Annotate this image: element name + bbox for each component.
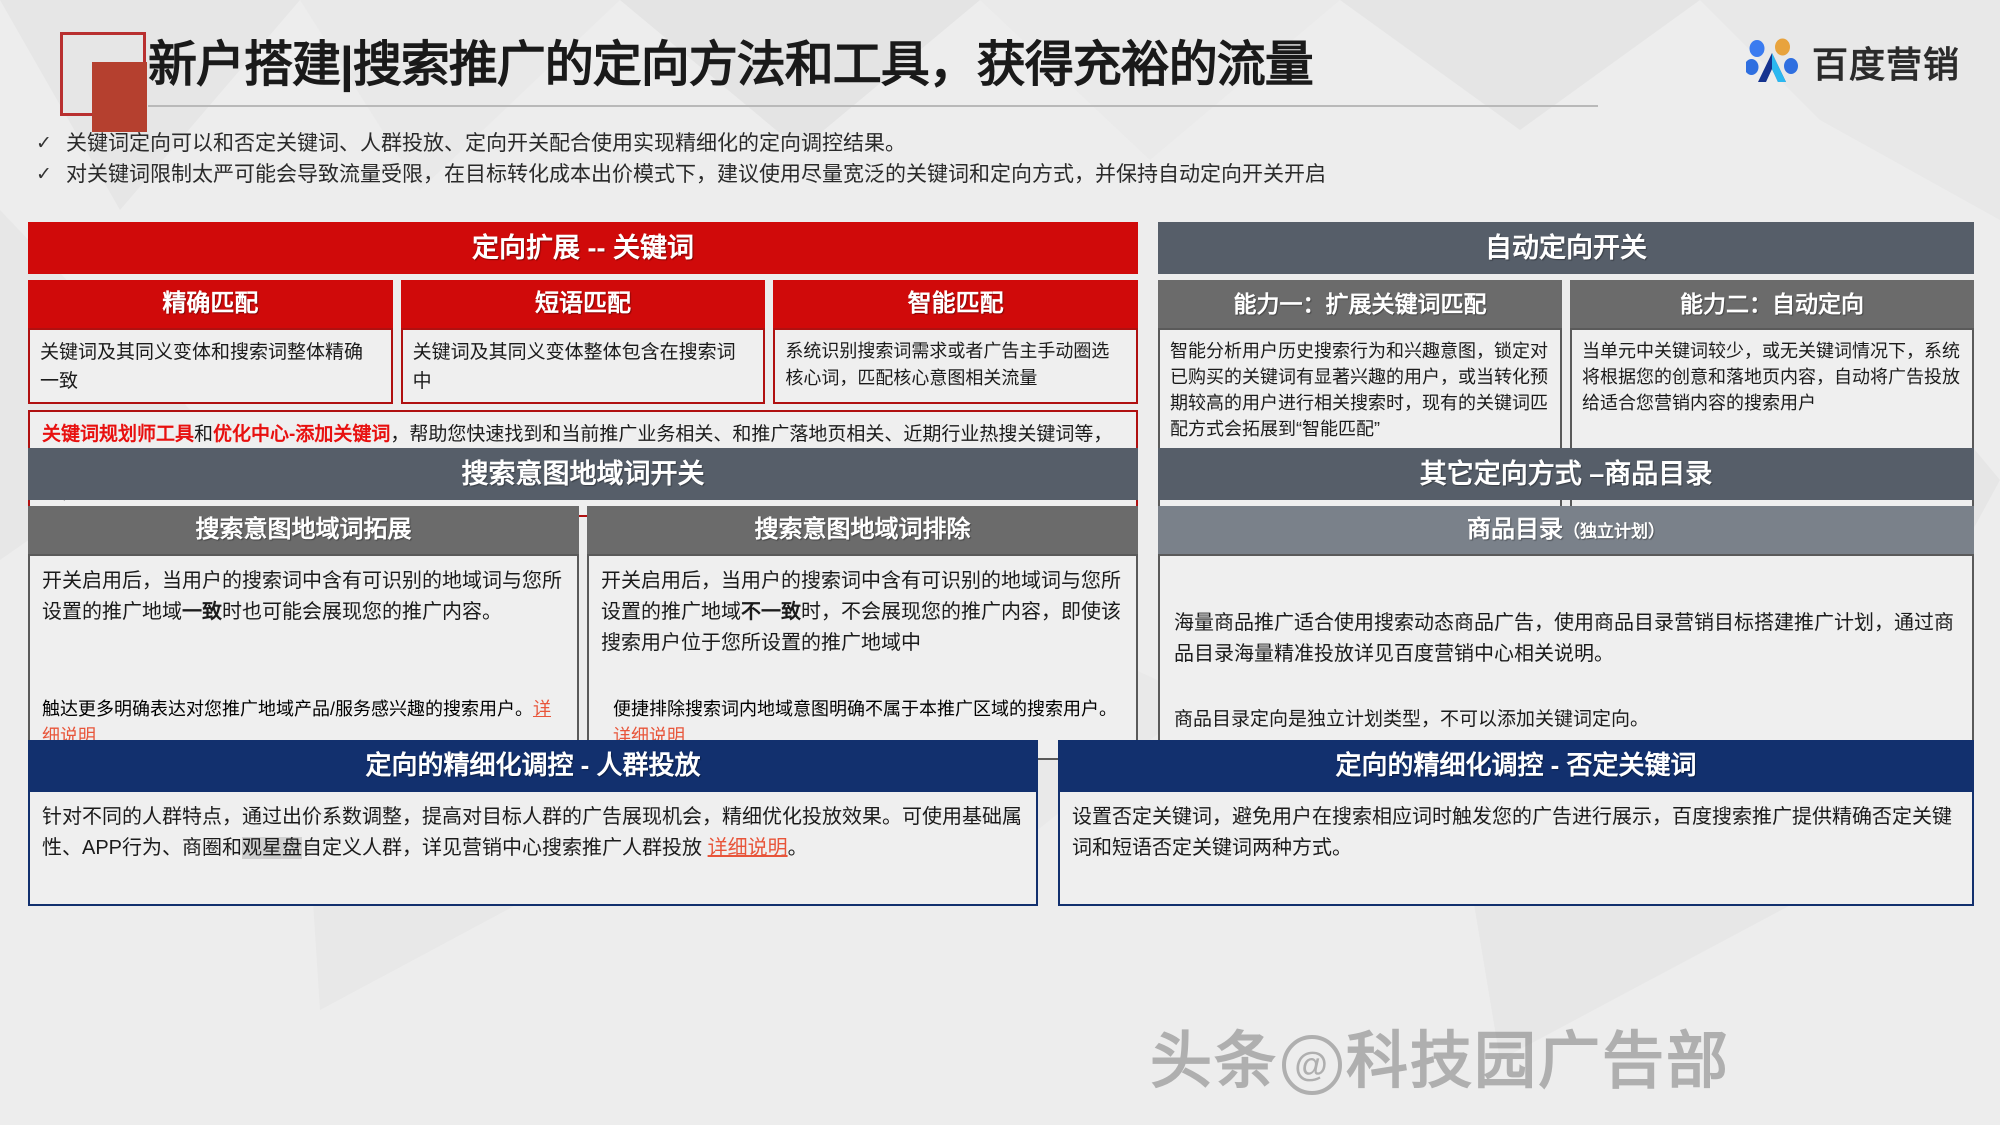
bullet-text: 对关键词限制太严可能会导致流量受限，在目标转化成本出价模式下，建议使用尽量宽泛的… bbox=[66, 159, 1326, 190]
note-link-keyword-planner[interactable]: 关键词规划师工具 bbox=[42, 424, 194, 445]
region-expand-text-post: 时也可能会展现您的推广内容。 bbox=[222, 601, 502, 623]
slide-root: 新户搭建|搜索推广的定向方法和工具，获得充裕的流量 百度营销 ✓ 关键词定向可以… bbox=[0, 0, 2000, 1125]
crowd-text-guanxingpan: 观星盘 bbox=[242, 837, 302, 859]
brand-logo-text: 百度营销 bbox=[1812, 36, 1960, 88]
card-phrase-match: 短语匹配 关键词及其同义变体整体包含在搜索词中 bbox=[401, 280, 766, 404]
card-region-exclude-body: 开关启用后，当用户的搜索词中含有可识别的地域词与您所设置的推广地域不一致时，不会… bbox=[587, 554, 1138, 760]
capability-one-text: 智能分析用户历史搜索行为和兴趣意图，锁定对已购买的关键词有显著兴趣的用户，或当转… bbox=[1170, 338, 1550, 442]
card-smart-match-heading: 智能匹配 bbox=[773, 280, 1138, 328]
card-region-expand-body: 开关启用后，当用户的搜索词中含有可识别的地域词与您所设置的推广地域一致时也可能会… bbox=[28, 554, 579, 760]
region-exclude-text-bold: 不一致 bbox=[741, 601, 801, 623]
region-expand-text-bold: 一致 bbox=[182, 601, 222, 623]
catalog-paragraph-2: 商品目录定向是独立计划类型，不可以添加关键词定向。 bbox=[1174, 705, 1958, 734]
card-region-exclude: 搜索意图地域词排除 开关启用后，当用户的搜索词中含有可识别的地域词与您所设置的推… bbox=[587, 506, 1138, 760]
card-exact-match-heading: 精确匹配 bbox=[28, 280, 393, 328]
card-capability-two-heading: 能力二：自动定向 bbox=[1570, 280, 1974, 328]
card-exact-match-body: 关键词及其同义变体和搜索词整体精确一致 bbox=[28, 328, 393, 404]
section-crowd-targeting-title: 定向的精细化调控 - 人群投放 bbox=[28, 740, 1038, 790]
card-region-expand: 搜索意图地域词拓展 开关启用后，当用户的搜索词中含有可识别的地域词与您所设置的推… bbox=[28, 506, 579, 760]
region-expand-text: 开关启用后，当用户的搜索词中含有可识别的地域词与您所设置的推广地域一致时也可能会… bbox=[42, 566, 565, 628]
card-catalog-body: 海量商品推广适合使用搜索动态商品广告，使用商品目录营销目标搭建推广计划，通过商品… bbox=[1158, 554, 1974, 760]
capability-two-text: 当单元中关键词较少，或无关键词情况下，系统将根据您的创意和落地页内容，自动将广告… bbox=[1582, 338, 1962, 416]
note-link-optimization-center[interactable]: 优化中心-添加关键词 bbox=[213, 424, 390, 445]
page-title: 新户搭建|搜索推广的定向方法和工具，获得充裕的流量 bbox=[148, 30, 1313, 100]
intro-bullet-list: ✓ 关键词定向可以和否定关键词、人群投放、定向开关配合使用实现精细化的定向调控结… bbox=[34, 128, 1974, 190]
section-negative-keywords-title: 定向的精细化调控 - 否定关键词 bbox=[1058, 740, 1974, 790]
card-catalog-heading-main: 商品目录 bbox=[1467, 516, 1563, 543]
check-icon: ✓ bbox=[34, 128, 54, 159]
card-smart-match-body: 系统识别搜索词需求或者广告主手动圈选核心词，匹配核心意图相关流量 bbox=[773, 328, 1138, 404]
region-exclude-footnote-text: 便捷排除搜索词内地域意图明确不属于本推广区域的搜索用户。 bbox=[613, 699, 1117, 719]
card-capability-one-heading: 能力一：扩展关键词匹配 bbox=[1158, 280, 1562, 328]
section-crowd-targeting: 定向的精细化调控 - 人群投放 针对不同的人群特点，通过出价系数调整，提高对目标… bbox=[28, 740, 1038, 906]
card-region-expand-heading: 搜索意图地域词拓展 bbox=[28, 506, 579, 554]
crowd-detail-link[interactable]: 详细说明 bbox=[708, 837, 788, 859]
card-phrase-match-heading: 短语匹配 bbox=[401, 280, 766, 328]
watermark-at-icon: @ bbox=[1282, 1035, 1342, 1095]
catalog-paragraph-1: 海量商品推广适合使用搜索动态商品广告，使用商品目录营销目标搭建推广计划，通过商品… bbox=[1174, 608, 1958, 670]
region-expand-footnote-text: 触达更多明确表达对您推广地域产品/服务感兴趣的搜索用户。 bbox=[42, 699, 533, 719]
watermark-prefix: 头条 bbox=[1150, 1027, 1278, 1096]
section-product-catalog: 其它定向方式 –商品目录 商品目录（独立计划） 海量商品推广适合使用搜索动态商品… bbox=[1158, 448, 1974, 760]
section-product-catalog-title: 其它定向方式 –商品目录 bbox=[1158, 448, 1974, 500]
note-text: 和 bbox=[194, 424, 213, 445]
bullet-text: 关键词定向可以和否定关键词、人群投放、定向开关配合使用实现精细化的定向调控结果。 bbox=[66, 128, 906, 159]
header-divider bbox=[148, 105, 1598, 107]
section-negative-keywords-body: 设置否定关键词，避免用户在搜索相应词时触发您的广告进行展示，百度搜索推广提供精确… bbox=[1058, 790, 1974, 906]
card-region-exclude-heading: 搜索意图地域词排除 bbox=[587, 506, 1138, 554]
card-smart-match: 智能匹配 系统识别搜索词需求或者广告主手动圈选核心词，匹配核心意图相关流量 bbox=[773, 280, 1138, 404]
section-keyword-expand-title: 定向扩展 -- 关键词 bbox=[28, 222, 1138, 274]
section-region-intent-title: 搜索意图地域词开关 bbox=[28, 448, 1138, 500]
bullet-item: ✓ 对关键词限制太严可能会导致流量受限，在目标转化成本出价模式下，建议使用尽量宽… bbox=[34, 159, 1974, 190]
region-exclude-text: 开关启用后，当用户的搜索词中含有可识别的地域词与您所设置的推广地域不一致时，不会… bbox=[601, 566, 1124, 659]
slide-header: 新户搭建|搜索推广的定向方法和工具，获得充裕的流量 百度营销 bbox=[0, 0, 2000, 128]
section-negative-keywords: 定向的精细化调控 - 否定关键词 设置否定关键词，避免用户在搜索相应词时触发您的… bbox=[1058, 740, 1974, 906]
crowd-text-mid: 自定义人群，详见营销中心搜索推广人群投放 bbox=[302, 837, 708, 859]
card-catalog-heading-note: （独立计划） bbox=[1563, 522, 1665, 541]
card-exact-match: 精确匹配 关键词及其同义变体和搜索词整体精确一致 bbox=[28, 280, 393, 404]
brand-logo: 百度营销 bbox=[1746, 36, 1960, 88]
header-decor-square-solid bbox=[92, 62, 147, 132]
section-region-intent-switch: 搜索意图地域词开关 搜索意图地域词拓展 开关启用后，当用户的搜索词中含有可识别的… bbox=[28, 448, 1138, 760]
section-crowd-targeting-body: 针对不同的人群特点，通过出价系数调整，提高对目标人群的广告展现机会，精细优化投放… bbox=[28, 790, 1038, 906]
bullet-item: ✓ 关键词定向可以和否定关键词、人群投放、定向开关配合使用实现精细化的定向调控结… bbox=[34, 128, 1974, 159]
card-phrase-match-body: 关键词及其同义变体整体包含在搜索词中 bbox=[401, 328, 766, 404]
section-auto-targeting-title: 自动定向开关 bbox=[1158, 222, 1974, 274]
card-catalog-heading: 商品目录（独立计划） bbox=[1158, 506, 1974, 554]
baidu-bear-paw-icon bbox=[1746, 38, 1800, 86]
watermark: 头条@科技园广告部 bbox=[1150, 1010, 1730, 1100]
check-icon: ✓ bbox=[34, 159, 54, 190]
watermark-suffix: 科技园广告部 bbox=[1346, 1027, 1730, 1096]
crowd-text-end: 。 bbox=[788, 837, 808, 859]
